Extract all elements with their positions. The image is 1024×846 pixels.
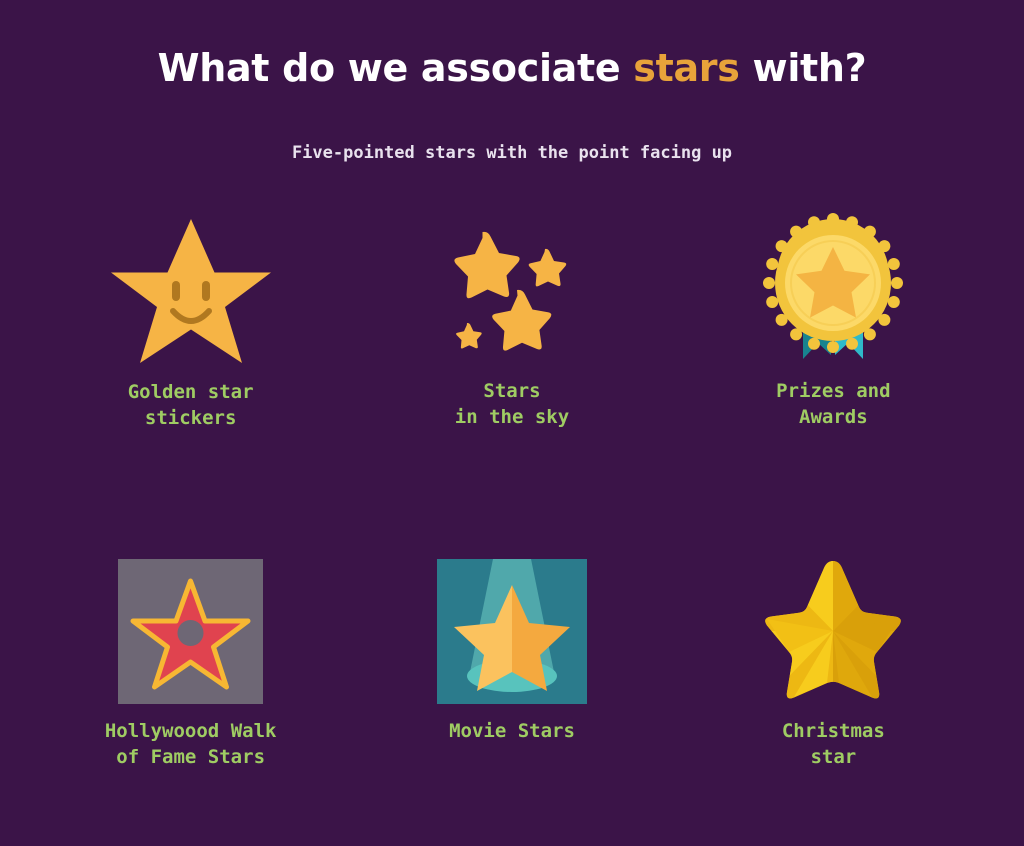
stars-in-sky-icon <box>454 230 569 350</box>
smiling-golden-star-icon <box>111 215 271 367</box>
associations-grid: Golden star stickers Stars in the sky <box>30 215 994 771</box>
grid-item-caption: Golden star stickers <box>128 379 254 431</box>
icon-container <box>111 215 271 367</box>
award-medal-icon <box>769 219 897 361</box>
page-subtitle: Five-pointed stars with the point facing… <box>0 142 1024 165</box>
spotlight-movie-star-icon <box>437 559 587 704</box>
icon-container <box>763 556 903 706</box>
page-title: What do we associate stars with? <box>0 48 1024 90</box>
grid-item-prizes-and-awards[interactable]: Prizes and Awards <box>673 215 994 430</box>
icon-container <box>769 215 897 366</box>
grid-item-caption: Christmas star <box>782 718 885 770</box>
grid-item-stars-in-the-sky[interactable]: Stars in the sky <box>351 215 672 430</box>
icon-container <box>118 556 263 706</box>
grid-item-caption: Hollywoood Walk of Fame Stars <box>105 718 277 770</box>
walk-of-fame-star-icon <box>118 559 263 704</box>
icon-container <box>437 556 587 706</box>
grid-item-hollywood-walk-of-fame[interactable]: Hollywoood Walk of Fame Stars <box>30 556 351 771</box>
page-title-part2: with? <box>740 46 867 90</box>
poster-canvas: What do we associate stars with? Five-po… <box>0 0 1024 846</box>
grid-item-caption: Movie Stars <box>449 718 575 744</box>
christmas-faceted-star-icon <box>763 559 903 704</box>
star-center-hole <box>178 620 204 646</box>
grid-item-caption: Prizes and Awards <box>776 378 890 430</box>
page-title-part1: What do we associate <box>158 46 634 90</box>
grid-item-caption: Stars in the sky <box>455 378 569 430</box>
grid-item-christmas-star[interactable]: Christmas star <box>673 556 994 771</box>
grid-item-golden-star-stickers[interactable]: Golden star stickers <box>30 215 351 430</box>
grid-item-movie-stars[interactable]: Movie Stars <box>351 556 672 771</box>
page-title-accent: stars <box>633 46 739 90</box>
icon-container <box>454 215 569 366</box>
